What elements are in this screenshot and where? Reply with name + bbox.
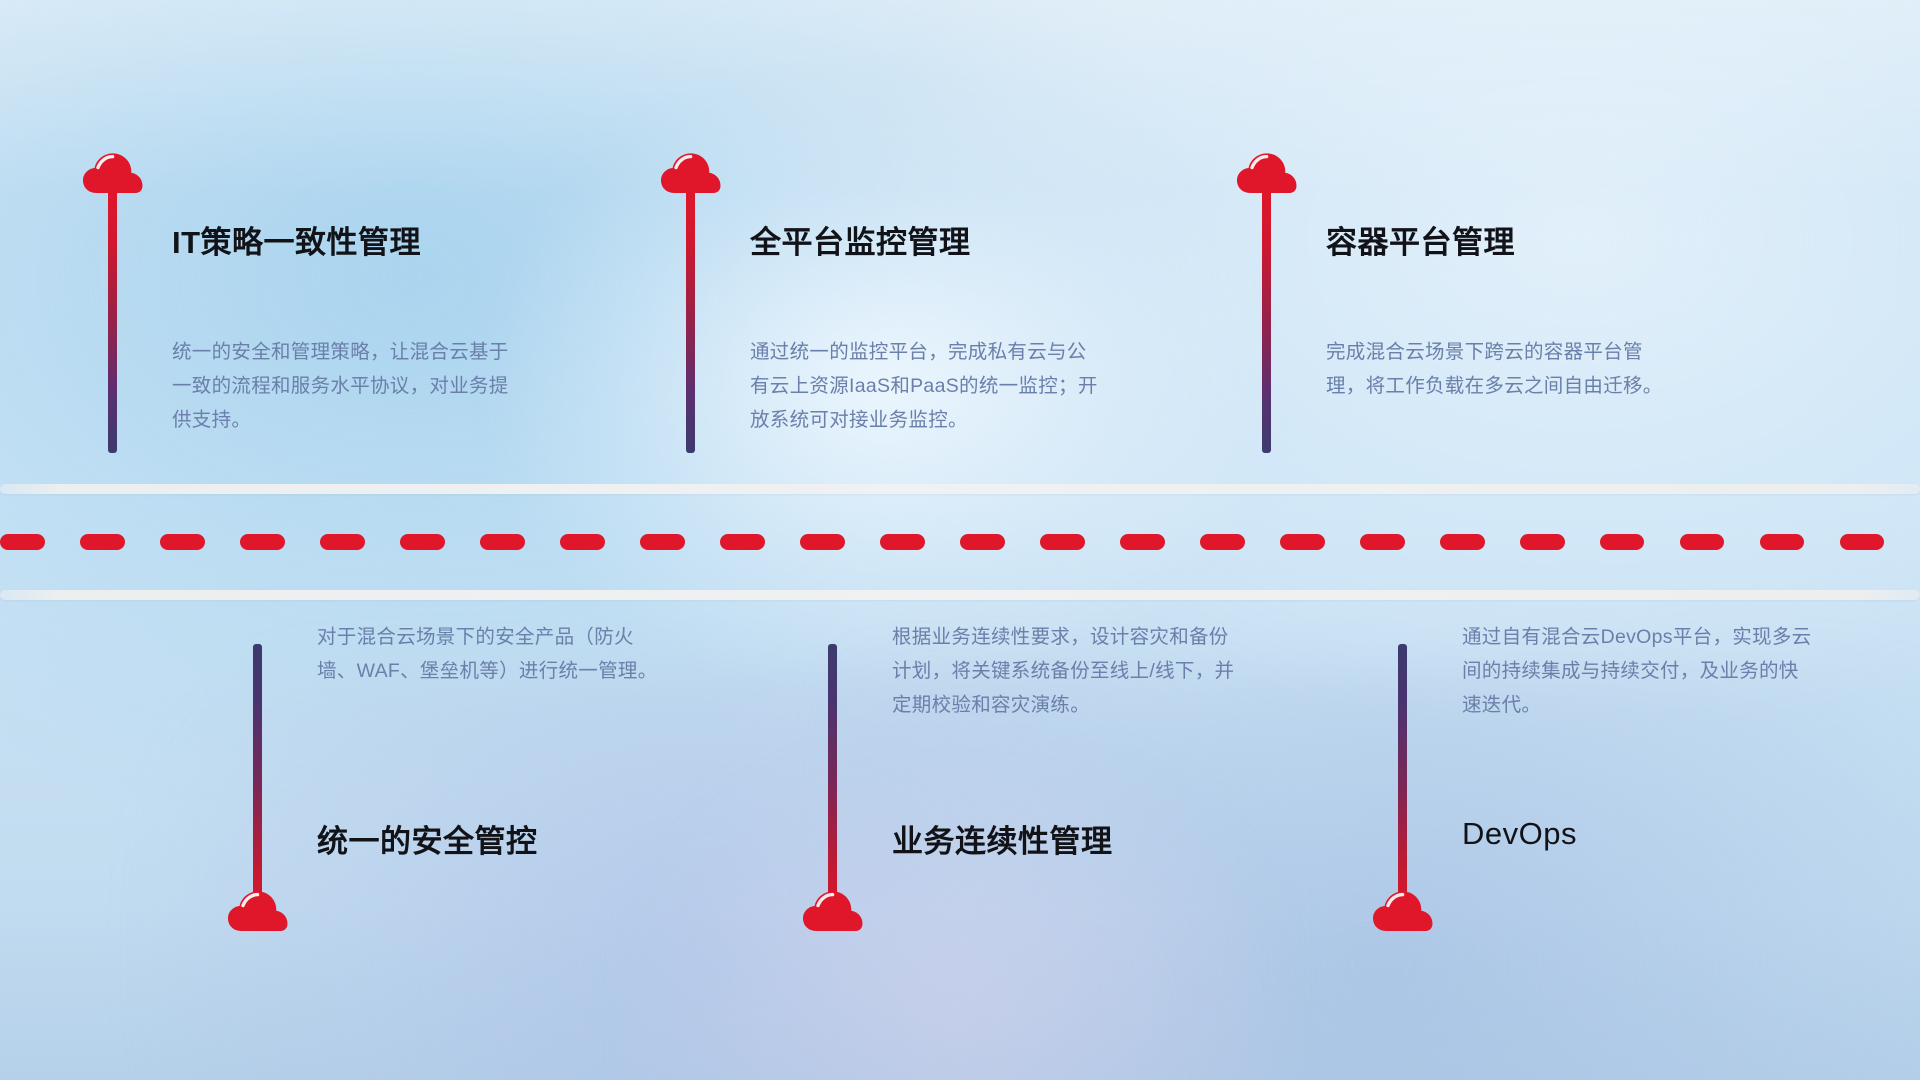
card-body: 对于混合云场景下的安全产品（防火墙、WAF、堡垒机等）进行统一管理。 [317, 620, 667, 688]
road-dash [1840, 534, 1885, 550]
road-dash [720, 534, 765, 550]
cloud-icon [227, 888, 289, 932]
card-body: 根据业务连续性要求，设计容灾和备份计划，将关键系统备份至线上/线下，并定期校验和… [892, 620, 1242, 722]
road-dash [1200, 534, 1245, 550]
connector-line [108, 188, 117, 453]
road-dash [1280, 534, 1325, 550]
card-heading: 统一的安全管控 [317, 816, 538, 861]
road-dash [1360, 534, 1405, 550]
card-body: 通过自有混合云DevOps平台，实现多云间的持续集成与持续交付，及业务的快速迭代… [1462, 620, 1812, 722]
road-dash [1040, 534, 1085, 550]
cloud-icon [82, 150, 144, 194]
card-heading: 业务连续性管理 [892, 816, 1113, 861]
road-edge-bottom [0, 590, 1920, 600]
road-dash [1120, 534, 1165, 550]
card-body: 通过统一的监控平台，完成私有云与公有云上资源IaaS和PaaS的统一监控；开放系… [750, 335, 1100, 437]
connector-line [1398, 644, 1407, 914]
road-dash [160, 534, 205, 550]
stem-wrap [100, 188, 126, 453]
road-dash [240, 534, 285, 550]
connector-line [686, 188, 695, 453]
cloud-icon [660, 150, 722, 194]
road-dash [640, 534, 685, 550]
road-dash [880, 534, 925, 550]
cloud-icon [1372, 888, 1434, 932]
road-dash [80, 534, 125, 550]
road-dash [400, 534, 445, 550]
connector-line [1262, 188, 1271, 453]
road-dash [1600, 534, 1645, 550]
card-heading: 全平台监控管理 [750, 217, 971, 262]
road-edge-top [0, 484, 1920, 494]
road-dash [480, 534, 525, 550]
stem-wrap [678, 188, 704, 453]
road-divider [0, 484, 1920, 600]
road-dashed-centerline [0, 534, 1920, 550]
cloud-icon [1236, 150, 1298, 194]
card-heading: 容器平台管理 [1326, 217, 1515, 262]
road-dash [1440, 534, 1485, 550]
card-heading: IT策略一致性管理 [172, 217, 421, 262]
stem-wrap [245, 644, 271, 914]
stem-wrap [820, 644, 846, 914]
road-dash [1760, 534, 1805, 550]
infographic-canvas: IT策略一致性管理 统一的安全和管理策略，让混合云基于一致的流程和服务水平协议，… [0, 0, 1920, 1080]
cloud-icon [802, 888, 864, 932]
road-dash [1680, 534, 1725, 550]
road-dash [0, 534, 45, 550]
road-dash [800, 534, 845, 550]
road-dash [320, 534, 365, 550]
road-dash [560, 534, 605, 550]
card-heading: DevOps [1462, 816, 1577, 852]
connector-line [828, 644, 837, 914]
connector-line [253, 644, 262, 914]
road-dash [960, 534, 1005, 550]
stem-wrap [1254, 188, 1280, 453]
card-body: 统一的安全和管理策略，让混合云基于一致的流程和服务水平协议，对业务提供支持。 [172, 335, 522, 437]
card-body: 完成混合云场景下跨云的容器平台管理，将工作负载在多云之间自由迁移。 [1326, 335, 1676, 403]
road-dash [1520, 534, 1565, 550]
stem-wrap [1390, 644, 1416, 914]
